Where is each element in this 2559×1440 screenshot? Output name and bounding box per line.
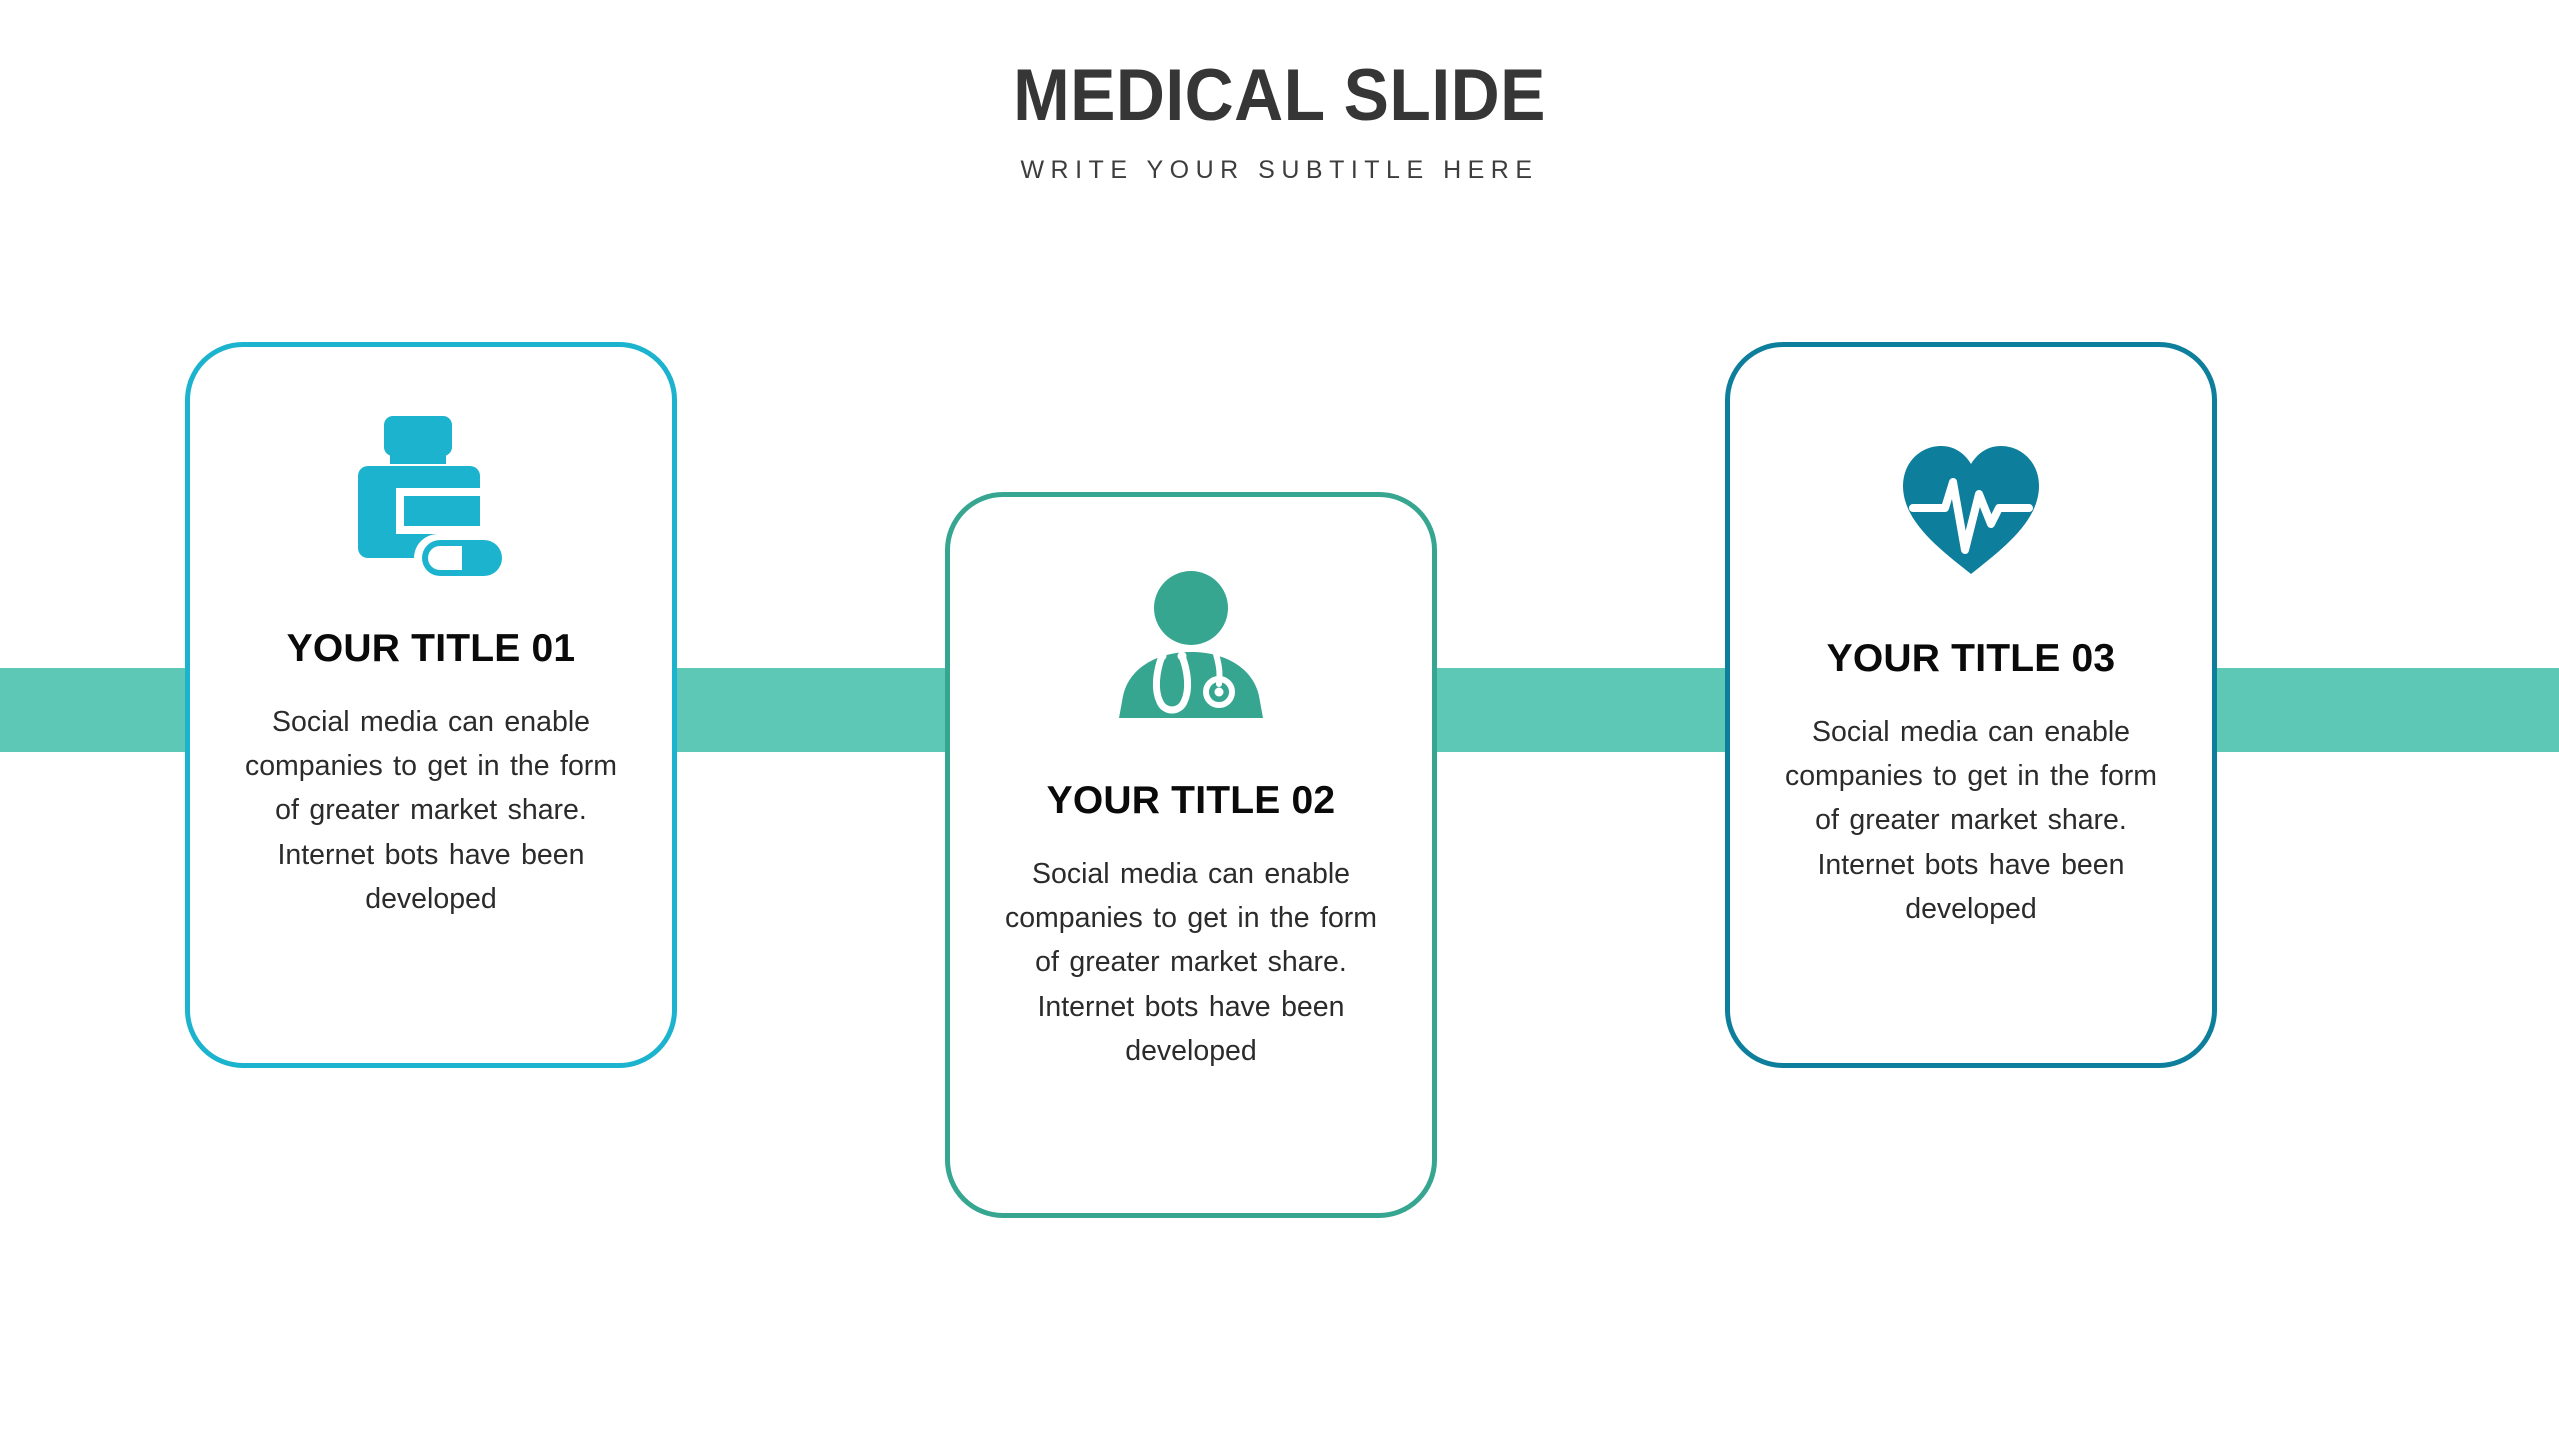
doctor-stethoscope-icon — [1110, 555, 1272, 733]
pill-bottle-icon — [356, 409, 506, 587]
page-title: MEDICAL SLIDE — [90, 58, 2470, 135]
card-title: YOUR TITLE 03 — [1827, 639, 2116, 678]
info-card-1[interactable]: YOUR TITLE 01 Social media can enable co… — [185, 342, 677, 1068]
card-body-text: Social media can enable companies to get… — [229, 700, 633, 921]
page-subtitle: WRITE YOUR SUBTITLE HERE — [0, 157, 2559, 185]
card-title: YOUR TITLE 02 — [1047, 781, 1336, 820]
card-title: YOUR TITLE 01 — [287, 629, 576, 668]
info-card-3[interactable]: YOUR TITLE 03 Social media can enable co… — [1725, 342, 2217, 1068]
heart-pulse-icon — [1895, 419, 2047, 597]
info-card-2[interactable]: YOUR TITLE 02 Social media can enable co… — [945, 492, 1437, 1218]
card-body-text: Social media can enable companies to get… — [989, 852, 1393, 1073]
slide-canvas: MEDICAL SLIDE WRITE YOUR SUBTITLE HERE — [0, 0, 2559, 1440]
slide-header: MEDICAL SLIDE WRITE YOUR SUBTITLE HERE — [0, 58, 2559, 184]
card-body-text: Social media can enable companies to get… — [1769, 710, 2173, 931]
